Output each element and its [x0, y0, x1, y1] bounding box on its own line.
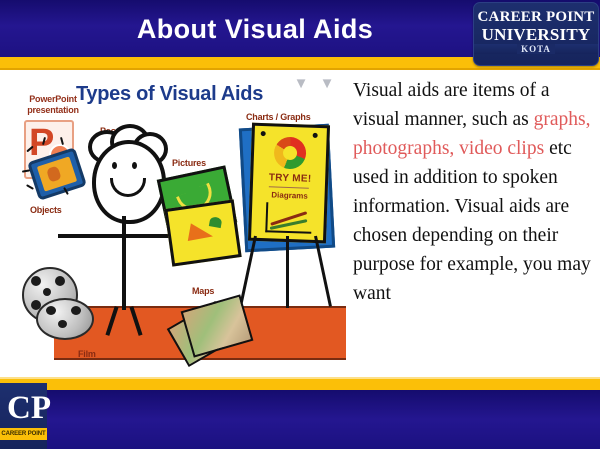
- pin-icon: [261, 131, 266, 136]
- footer-brand-text: CAREER POINT: [0, 428, 47, 440]
- page-title: About Visual Aids: [90, 12, 420, 46]
- pie-chart-graphic: [273, 136, 306, 169]
- logo-line-university: UNIVERSITY: [474, 25, 598, 45]
- bird-icon: ▼: [292, 78, 310, 89]
- logo-kota-text: KOTA: [517, 44, 555, 54]
- flipchart-rule: [269, 186, 309, 188]
- spark-line: [26, 184, 34, 190]
- reel-hole: [46, 306, 56, 315]
- logo-line-career-point: CAREER POINT: [474, 9, 598, 26]
- pin-icon: [313, 133, 318, 138]
- easel-leg: [286, 236, 289, 308]
- slide-footer: [0, 390, 600, 449]
- figure-eye: [132, 162, 137, 169]
- carrot-leaves: [209, 216, 223, 228]
- paragraph-part-1: Visual aids are items of a visual manner…: [353, 80, 549, 130]
- chart-y-axis: [265, 202, 268, 232]
- reel-hub: [58, 320, 67, 328]
- reel-hole: [55, 276, 65, 286]
- film-reel-icon: [36, 298, 94, 340]
- university-logo: CAREER POINT UNIVERSITY KOTA: [473, 2, 599, 66]
- slide: About Visual Aids CAREER POINT UNIVERSIT…: [0, 0, 600, 449]
- tablet-screen: [37, 156, 77, 191]
- label-charts-graphs: Charts / Graphs: [246, 112, 311, 123]
- reel-hole: [71, 306, 81, 315]
- footer-accent-bar: [0, 379, 600, 390]
- label-objects: Objects: [30, 205, 62, 216]
- cp-monogram-icon: CP: [7, 389, 41, 427]
- chart-x-axis: [265, 230, 311, 234]
- label-pictures: Pictures: [172, 158, 206, 169]
- bird-icon: ▼: [318, 78, 336, 89]
- visual-aids-illustration: Types of Visual Aids ▼ ▼ PowerPoint pres…: [14, 74, 346, 376]
- logo-line-kota: KOTA: [474, 44, 598, 54]
- label-film: Film: [78, 349, 96, 360]
- illustration-title: Types of Visual Aids: [76, 83, 296, 106]
- paragraph-part-2: etc used in addition to spoken informati…: [353, 138, 591, 304]
- figure-eye: [112, 162, 117, 169]
- label-powerpoint: PowerPoint presentation: [20, 94, 86, 116]
- figure-torso: [122, 216, 126, 310]
- reel-hole: [31, 276, 41, 286]
- footer-brand-band: CAREER POINT: [0, 428, 47, 440]
- flipchart-headline: TRY ME!: [262, 172, 318, 185]
- carrot-icon: [188, 223, 215, 245]
- flipchart-page: TRY ME! Diagrams: [248, 123, 330, 244]
- body-paragraph: Visual aids are items of a visual manner…: [353, 76, 593, 308]
- picture-card-carrot: [164, 199, 241, 266]
- flipchart-caption: Diagrams: [260, 190, 318, 201]
- reel-hub: [43, 288, 51, 296]
- decorative-birds: ▼ ▼: [292, 78, 344, 94]
- figure-arm-left: [58, 234, 126, 238]
- label-maps: Maps: [192, 286, 214, 297]
